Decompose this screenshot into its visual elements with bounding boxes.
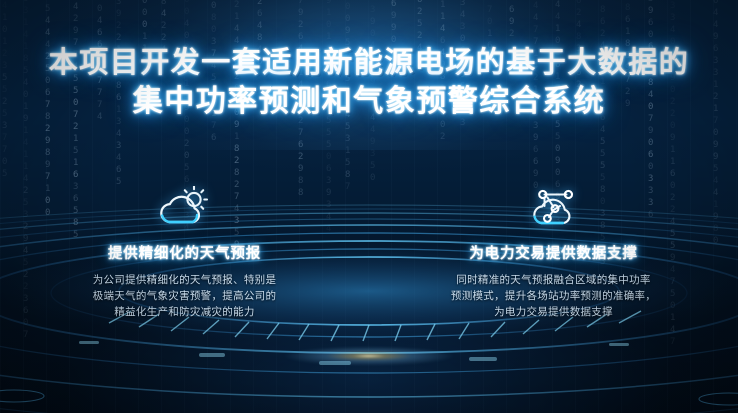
digit-rain-column: 0359370164 [487,0,492,64]
feature-title: 为电力交易提供数据支撑 [369,242,738,263]
feature-title: 提供精细化的天气预报 [0,242,369,263]
data-network-cloud-icon [369,176,738,232]
digit-rain-column: 454123064306114649814802 [440,0,445,143]
digit-rain-column: 078410123552537705 [2,0,7,180]
top-glow [0,0,738,150]
feature-body-line: 极端天气的气象灾害预警，提高公司的 [0,288,369,304]
digit-rain-column: 956071360095045444531587 [345,0,350,193]
digit-rain-column: 22754477142160396690 [533,0,538,192]
digit-rain-column: 826043924034306795173 [460,0,465,129]
feature-body-line: 精益化生产和防灾减灾的能力 [0,304,369,320]
feature-card-weather-forecast: 提供精细化的天气预报 为公司提供精细化的天气预报、特别是 极端天气的气象灾害预警… [0,176,369,320]
digit-rain-column: 8555973922129861343465 [116,0,121,188]
digit-rain-column: 6285690466267774 [97,0,102,123]
feature-card-data-support: 为电力交易提供数据支撑 同时精准的天气预报融合区域的集中功率 预测模式，提升各场… [369,176,738,320]
digit-rain-column: 409078565183264848 [257,0,262,68]
feature-body-line: 预测模式，提升各场站功率预测的准确率， [369,288,738,304]
feature-body-line: 为公司提供精细化的天气预报、特别是 [0,272,369,288]
feature-body-line: 同时精准的天气预报融合区域的集中功率 [369,272,738,288]
digit-rain-column: 44801678692 [509,0,514,40]
digit-rain-column: 155776880169909 [391,0,396,58]
digit-rain-column: 6201137390490947449350 [370,0,375,184]
digit-rain-column: 384766279264814322762988 [298,0,303,199]
title-line-2: 集中功率预测和气象预警综合系统 [0,82,738,122]
title-line-1: 本项目开发一套适用新能源电场的基于大数据的 [0,42,738,82]
presentation-slide: 0784101235525377050363141854019141142532… [0,0,738,413]
digit-rain-column: 716332389984224 [161,0,166,56]
digit-rain-column: 16118562625243 [417,0,422,66]
digit-rain-column: 7861859729 [625,0,630,110]
digit-rain-column: 6248396204 [576,0,581,115]
feature-columns: 提供精细化的天气预报 为公司提供精细化的天气预报、特别是 极端天气的气象灾害预警… [0,176,738,320]
feature-body: 同时精准的天气预报融合区域的集中功率 预测模式，提升各场站功率预测的准确率， 为… [369,272,738,320]
cloud-sun-icon [0,176,369,232]
digit-rain-column: 25040307455080374509176 [211,0,216,144]
page-title: 本项目开发一套适用新能源电场的基于大数据的 集中功率预测和气象预警综合系统 [0,42,738,122]
core-light-glow [254,343,484,369]
feature-body-line: 为电力交易提供数据支撑 [369,304,738,320]
feature-body: 为公司提供精细化的天气预报、特别是 极端天气的气象灾害预警，提高公司的 精益化生… [0,272,369,320]
digit-rain-column: 8454963960620001131 [142,0,147,79]
